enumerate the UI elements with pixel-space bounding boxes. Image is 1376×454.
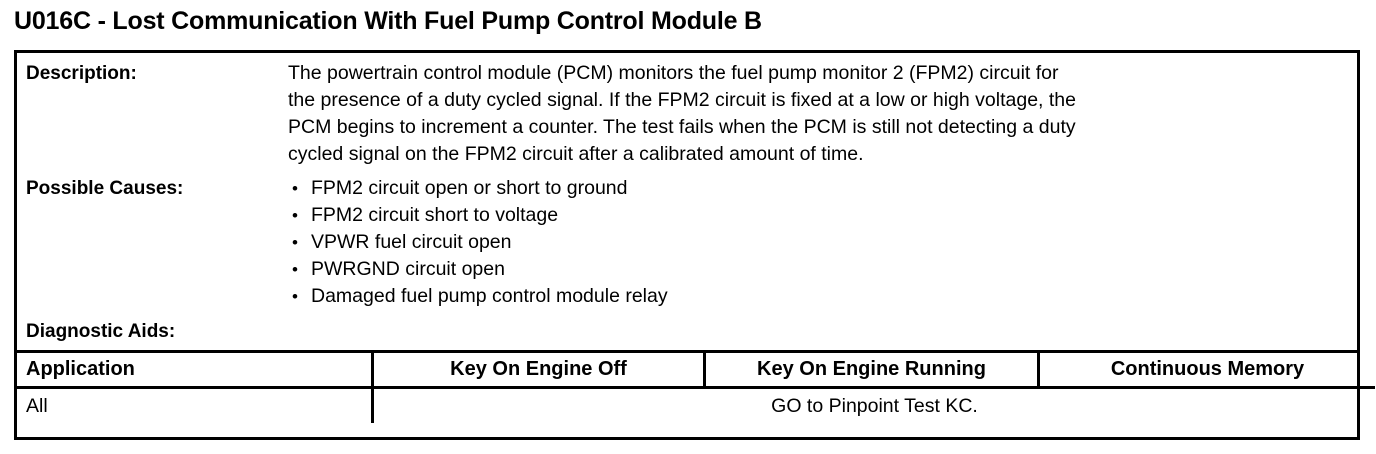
possible-causes-list: • FPM2 circuit open or short to ground •… [288,175,1345,310]
description-line: the presence of a duty cycled signal. If… [288,87,1345,114]
diagnostic-aids-label: Diagnostic Aids: [17,318,288,345]
possible-causes-label: Possible Causes: [17,175,288,202]
list-item-label: VPWR fuel circuit open [311,231,512,253]
results-table: Application Key On Engine Off Key On Eng… [17,353,1375,423]
description-line: PCM begins to increment a counter. The t… [288,114,1345,141]
column-header-key-on-engine-off: Key On Engine Off [373,353,705,388]
info-region: Description: The powertrain control modu… [17,53,1357,350]
column-header-continuous-memory: Continuous Memory [1039,353,1376,388]
list-item-label: FPM2 circuit open or short to ground [311,177,628,199]
column-header-key-on-engine-running: Key On Engine Running [705,353,1039,388]
list-item: • VPWR fuel circuit open [288,229,1345,256]
description-row: Description: The powertrain control modu… [17,53,1357,168]
table-header-row: Application Key On Engine Off Key On Eng… [17,353,1375,388]
bullet-icon: • [292,229,298,256]
possible-causes-row: Possible Causes: • FPM2 circuit open or … [17,168,1357,310]
list-item: • Damaged fuel pump control module relay [288,283,1345,310]
column-header-application: Application [17,353,373,388]
description-line: cycled signal on the FPM2 circuit after … [288,141,1345,168]
page-title: U016C - Lost Communication With Fuel Pum… [14,6,762,36]
list-item-label: Damaged fuel pump control module relay [311,285,668,307]
cell-application: All [17,388,373,424]
list-item-label: FPM2 circuit short to voltage [311,204,558,226]
cell-merged-result: GO to Pinpoint Test KC. [373,388,1376,424]
list-item: • FPM2 circuit open or short to ground [288,175,1345,202]
list-item: • FPM2 circuit short to voltage [288,202,1345,229]
bullet-icon: • [292,256,298,283]
description-line: The powertrain control module (PCM) moni… [288,60,1345,87]
description-content: The powertrain control module (PCM) moni… [288,60,1357,168]
table-row: All GO to Pinpoint Test KC. [17,388,1375,424]
list-item: • PWRGND circuit open [288,256,1345,283]
list-item-label: PWRGND circuit open [311,258,505,280]
diagnostic-aids-row: Diagnostic Aids: [17,310,1357,350]
dtc-info-box: Description: The powertrain control modu… [14,50,1360,440]
bullet-icon: • [292,202,298,229]
diagnostic-aids-content [288,318,1357,340]
bullet-icon: • [292,175,298,202]
description-label: Description: [17,60,288,87]
possible-causes-content: • FPM2 circuit open or short to ground •… [288,175,1357,310]
bullet-icon: • [292,283,298,310]
